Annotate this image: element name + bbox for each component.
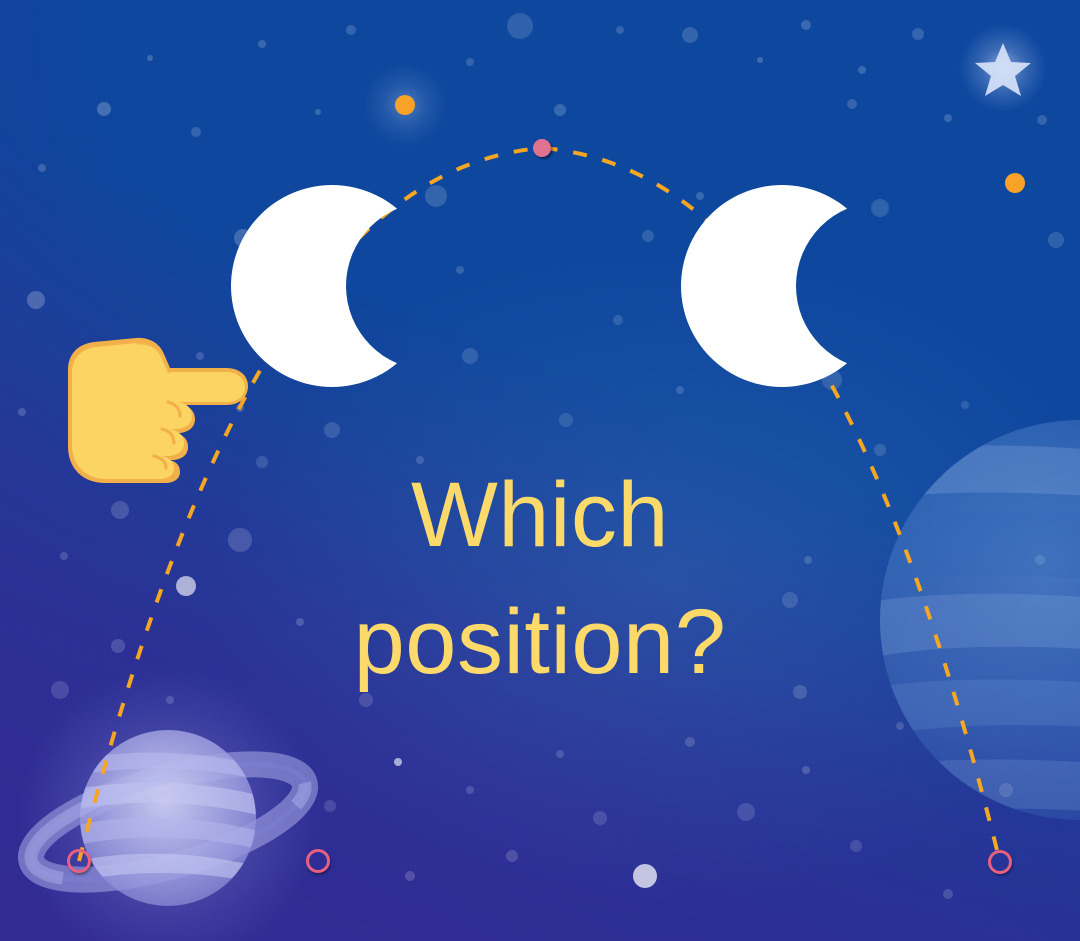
apex-marker-dot[interactable] bbox=[533, 139, 551, 157]
position-marker-middle[interactable] bbox=[306, 849, 330, 873]
position-marker-left[interactable] bbox=[67, 849, 91, 873]
pointing-right-hand-icon[interactable] bbox=[50, 318, 255, 483]
position-marker-right[interactable] bbox=[988, 850, 1012, 874]
page-title: Which position? bbox=[0, 452, 1080, 706]
space-scene-canvas: Which position? bbox=[0, 0, 1080, 941]
